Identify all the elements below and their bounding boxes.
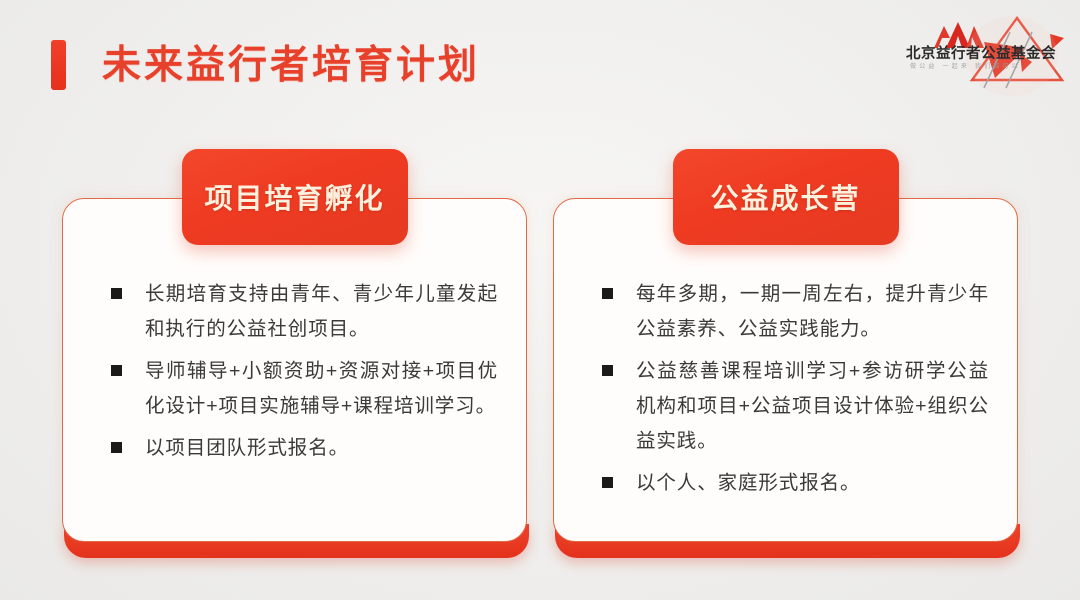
list-item: 每年多期，一期一周左右，提升青少年公益素养、公益实践能力。	[602, 277, 989, 347]
bullet-square-icon	[602, 365, 613, 376]
list-item: 以项目团队形式报名。	[111, 431, 498, 466]
list-item: 导师辅导+小额资助+资源对接+项目优化设计+项目实施辅导+课程培训学习。	[111, 354, 498, 424]
bullet-square-icon	[602, 477, 613, 488]
page-title: 未来益行者培育计划	[102, 46, 480, 85]
bullet-list: 长期培育支持由青年、青少年儿童发起和执行的公益社创项目。 导师辅导+小额资助+资…	[111, 277, 498, 473]
card-badge: 公益成长营	[673, 149, 899, 245]
card-container: 项目培育孵化 长期培育支持由青年、青少年儿童发起和执行的公益社创项目。 导师辅导…	[0, 198, 1080, 598]
list-item: 公益慈善课程培训学习+参访研学公益机构和项目+公益项目设计体验+组织公益实践。	[602, 354, 989, 459]
card-body: 公益成长营 每年多期，一期一周左右，提升青少年公益素养、公益实践能力。 公益慈善…	[553, 198, 1018, 542]
list-item: 以个人、家庭形式报名。	[602, 466, 989, 501]
list-item-text: 以项目团队形式报名。	[145, 431, 349, 466]
card-badge-label: 项目培育孵化	[204, 177, 384, 217]
bullet-square-icon	[602, 288, 613, 299]
list-item-text: 以个人、家庭形式报名。	[636, 466, 860, 501]
list-item-text: 每年多期，一期一周左右，提升青少年公益素养、公益实践能力。	[636, 277, 989, 347]
card-project-incubation: 项目培育孵化 长期培育支持由青年、青少年儿童发起和执行的公益社创项目。 导师辅导…	[62, 198, 527, 558]
bullet-list: 每年多期，一期一周左右，提升青少年公益素养、公益实践能力。 公益慈善课程培训学习…	[602, 277, 989, 508]
card-badge: 项目培育孵化	[182, 149, 408, 245]
card-public-welfare-growth-camp: 公益成长营 每年多期，一期一周左右，提升青少年公益素养、公益实践能力。 公益慈善…	[553, 198, 1018, 558]
list-item-text: 导师辅导+小额资助+资源对接+项目优化设计+项目实施辅导+课程培训学习。	[145, 354, 498, 424]
slide-canvas: 未来益行者培育计划 北京益行者公益基金会 做公益 一起来 我们都可以	[0, 0, 1080, 600]
list-item: 长期培育支持由青年、青少年儿童发起和执行的公益社创项目。	[111, 277, 498, 347]
organization-logo: 北京益行者公益基金会 做公益 一起来 我们都可以	[892, 4, 1072, 108]
bullet-square-icon	[111, 442, 122, 453]
list-item-text: 长期培育支持由青年、青少年儿童发起和执行的公益社创项目。	[145, 277, 498, 347]
card-body: 项目培育孵化 长期培育支持由青年、青少年儿童发起和执行的公益社创项目。 导师辅导…	[62, 198, 527, 542]
card-badge-label: 公益成长营	[710, 177, 860, 217]
slide-title-row: 未来益行者培育计划	[51, 40, 480, 90]
list-item-text: 公益慈善课程培训学习+参访研学公益机构和项目+公益项目设计体验+组织公益实践。	[636, 354, 989, 459]
logo-name-text: 北京益行者公益基金会	[906, 42, 1056, 63]
bullet-square-icon	[111, 288, 122, 299]
logo-tagline-text: 做公益 一起来 我们都可以	[910, 61, 1021, 70]
title-accent-bar	[51, 40, 66, 90]
bullet-square-icon	[111, 365, 122, 376]
